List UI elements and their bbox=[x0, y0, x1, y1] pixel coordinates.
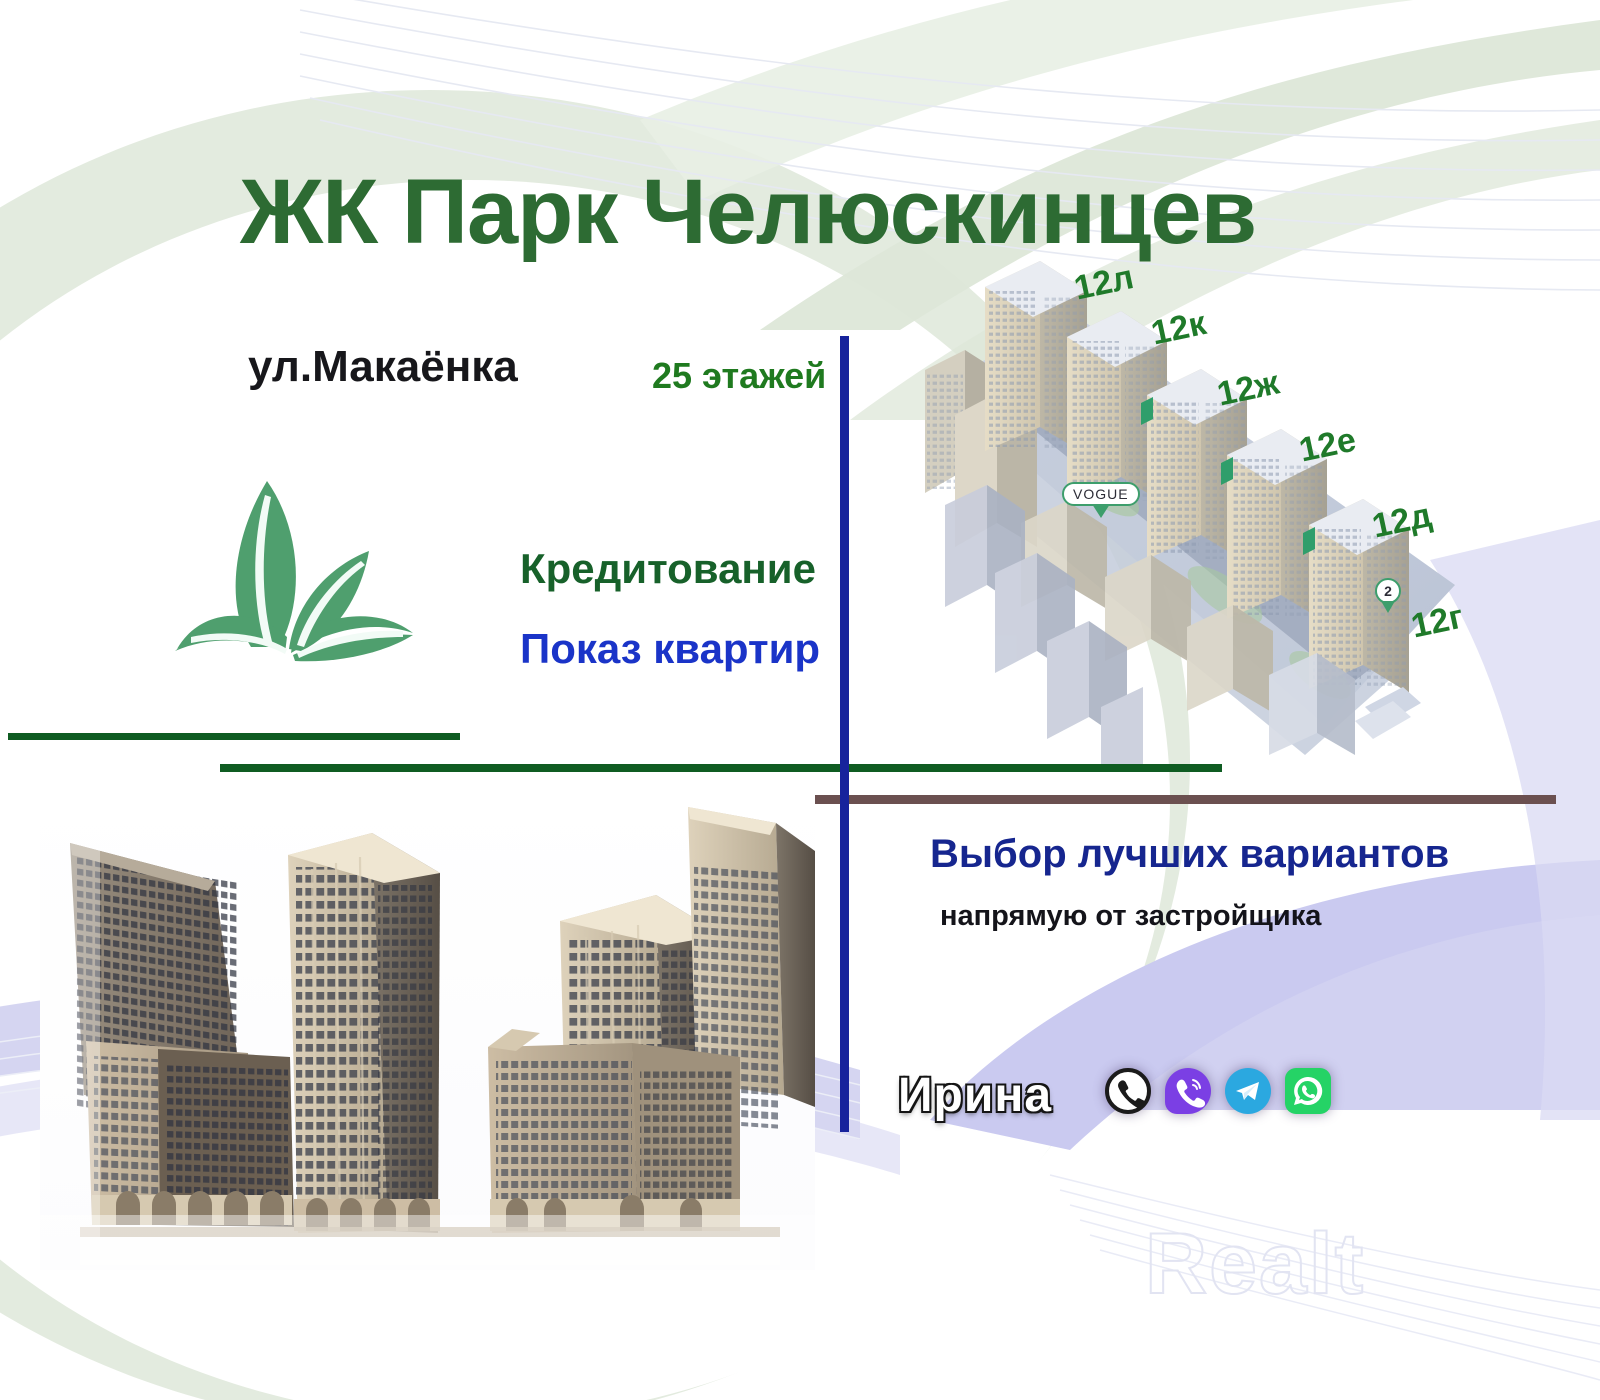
building-number-tail bbox=[1381, 601, 1395, 613]
whatsapp-icon[interactable] bbox=[1285, 1068, 1331, 1114]
realt-watermark: Realt bbox=[1145, 1215, 1365, 1314]
telegram-icon[interactable] bbox=[1225, 1068, 1271, 1114]
floors-label: 25 этажей bbox=[652, 355, 826, 397]
vogue-pin-tail bbox=[1092, 504, 1110, 518]
page-title: ЖК Парк Челюскинцев bbox=[240, 160, 1256, 265]
poster-canvas: ЖК Парк Челюскинцев ул.Макаёнка 25 этаже… bbox=[0, 0, 1600, 1400]
contact-icon-row bbox=[1105, 1068, 1331, 1114]
vogue-pin-label: VOGUE bbox=[1062, 482, 1140, 506]
building-photo bbox=[40, 795, 815, 1270]
agent-name: Ирина bbox=[898, 1068, 1052, 1123]
show-flats-label: Показ квартир bbox=[520, 625, 820, 673]
viber-icon[interactable] bbox=[1165, 1068, 1211, 1114]
vogue-map-pin: VOGUE bbox=[1062, 482, 1140, 518]
credit-label: Кредитование bbox=[520, 545, 816, 593]
phone-icon[interactable] bbox=[1105, 1068, 1151, 1114]
rule-green-lower bbox=[220, 764, 1222, 772]
street-label: ул.Макаёнка bbox=[248, 342, 518, 392]
building-number-pin: 2 bbox=[1375, 578, 1401, 613]
best-options-label: Выбор лучших вариантов bbox=[930, 832, 1449, 877]
vertical-divider bbox=[840, 336, 849, 1132]
leaf-logo bbox=[155, 455, 435, 710]
rule-green-upper bbox=[8, 733, 460, 740]
direct-from-developer-label: напрямую от застройщика bbox=[940, 900, 1321, 933]
